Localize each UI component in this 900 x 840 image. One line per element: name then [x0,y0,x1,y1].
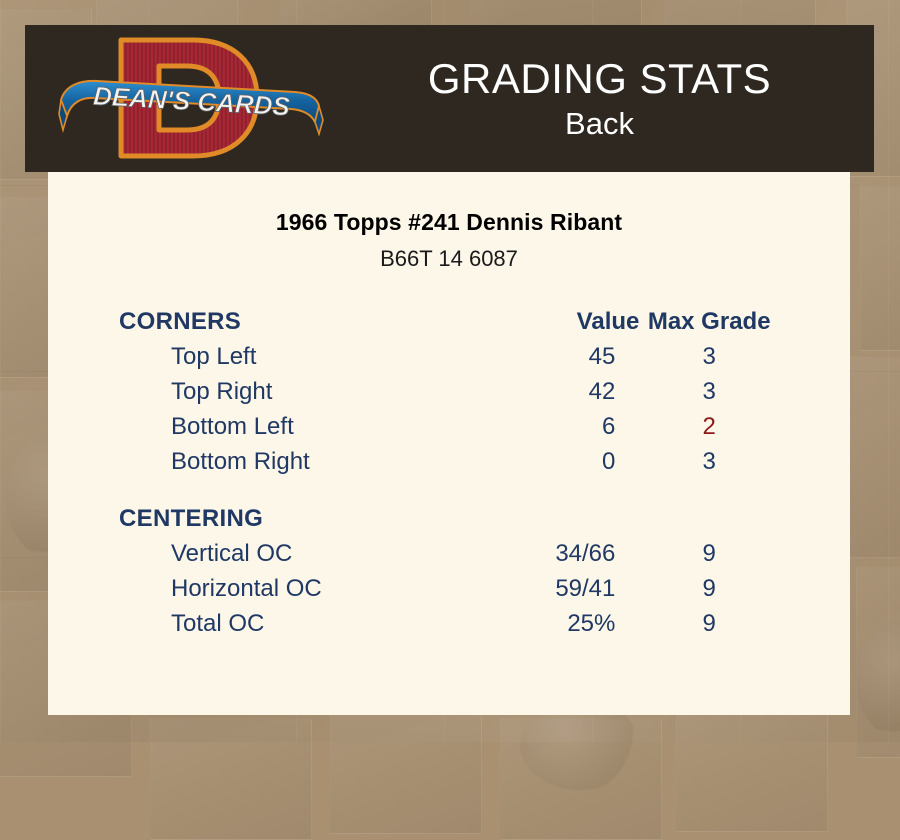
row-label: Vertical OC [119,536,461,571]
table-row: Bottom Left62 [119,409,779,444]
deans-cards-logo[interactable]: DEAN'S CARDS [55,28,325,168]
row-label: Total OC [119,606,461,641]
section-title-centering: CENTERING [119,501,461,536]
row-max-grade: 3 [639,374,779,409]
row-max-grade: 3 [639,444,779,479]
section-spacer [119,479,779,501]
card-title: 1966 Topps #241 Dennis Ribant [48,209,850,236]
row-label: Bottom Left [119,409,461,444]
row-label: Horizontal OC [119,571,461,606]
card-identifier: B66T 14 6087 [48,246,850,272]
logo-ribbon-text: DEAN'S CARDS [92,81,291,122]
row-max-grade: 9 [639,606,779,641]
page-title: GRADING STATS [428,57,771,101]
row-label: Top Left [119,339,461,374]
row-value: 42 [461,374,639,409]
column-header-max-grade: Max Grade [639,304,779,339]
logo-ribbon-banner: DEAN'S CARDS [57,70,325,136]
row-value: 45 [461,339,639,374]
section-header-row: CORNERSValueMax Grade [119,304,779,339]
section-header-row: CENTERING [119,501,779,536]
section-title-corners: CORNERS [119,304,461,339]
row-max-grade: 9 [639,571,779,606]
row-max-grade: 3 [639,339,779,374]
page-header: DEAN'S CARDS GRADING STATS Back [25,25,874,172]
column-header-value [461,501,639,536]
row-max-grade: 9 [639,536,779,571]
row-value: 0 [461,444,639,479]
content-panel: 1966 Topps #241 Dennis Ribant B66T 14 60… [48,172,850,715]
table-row: Horizontal OC59/419 [119,571,779,606]
table-row: Top Right423 [119,374,779,409]
column-header-max-grade [639,501,779,536]
row-label: Bottom Right [119,444,461,479]
row-label: Top Right [119,374,461,409]
row-value: 6 [461,409,639,444]
grading-stats-body: CORNERSValueMax GradeTop Left453Top Righ… [119,304,779,641]
page-subtitle: Back [565,108,634,141]
grading-stats-table: CORNERSValueMax GradeTop Left453Top Righ… [119,304,779,641]
header-title-block: GRADING STATS Back [325,25,874,172]
section-spacer-cell [119,479,779,501]
row-value: 34/66 [461,536,639,571]
row-max-grade: 2 [639,409,779,444]
table-row: Total OC25%9 [119,606,779,641]
column-header-value: Value [461,304,639,339]
row-value: 25% [461,606,639,641]
table-row: Top Left453 [119,339,779,374]
table-row: Bottom Right03 [119,444,779,479]
row-value: 59/41 [461,571,639,606]
table-row: Vertical OC34/669 [119,536,779,571]
